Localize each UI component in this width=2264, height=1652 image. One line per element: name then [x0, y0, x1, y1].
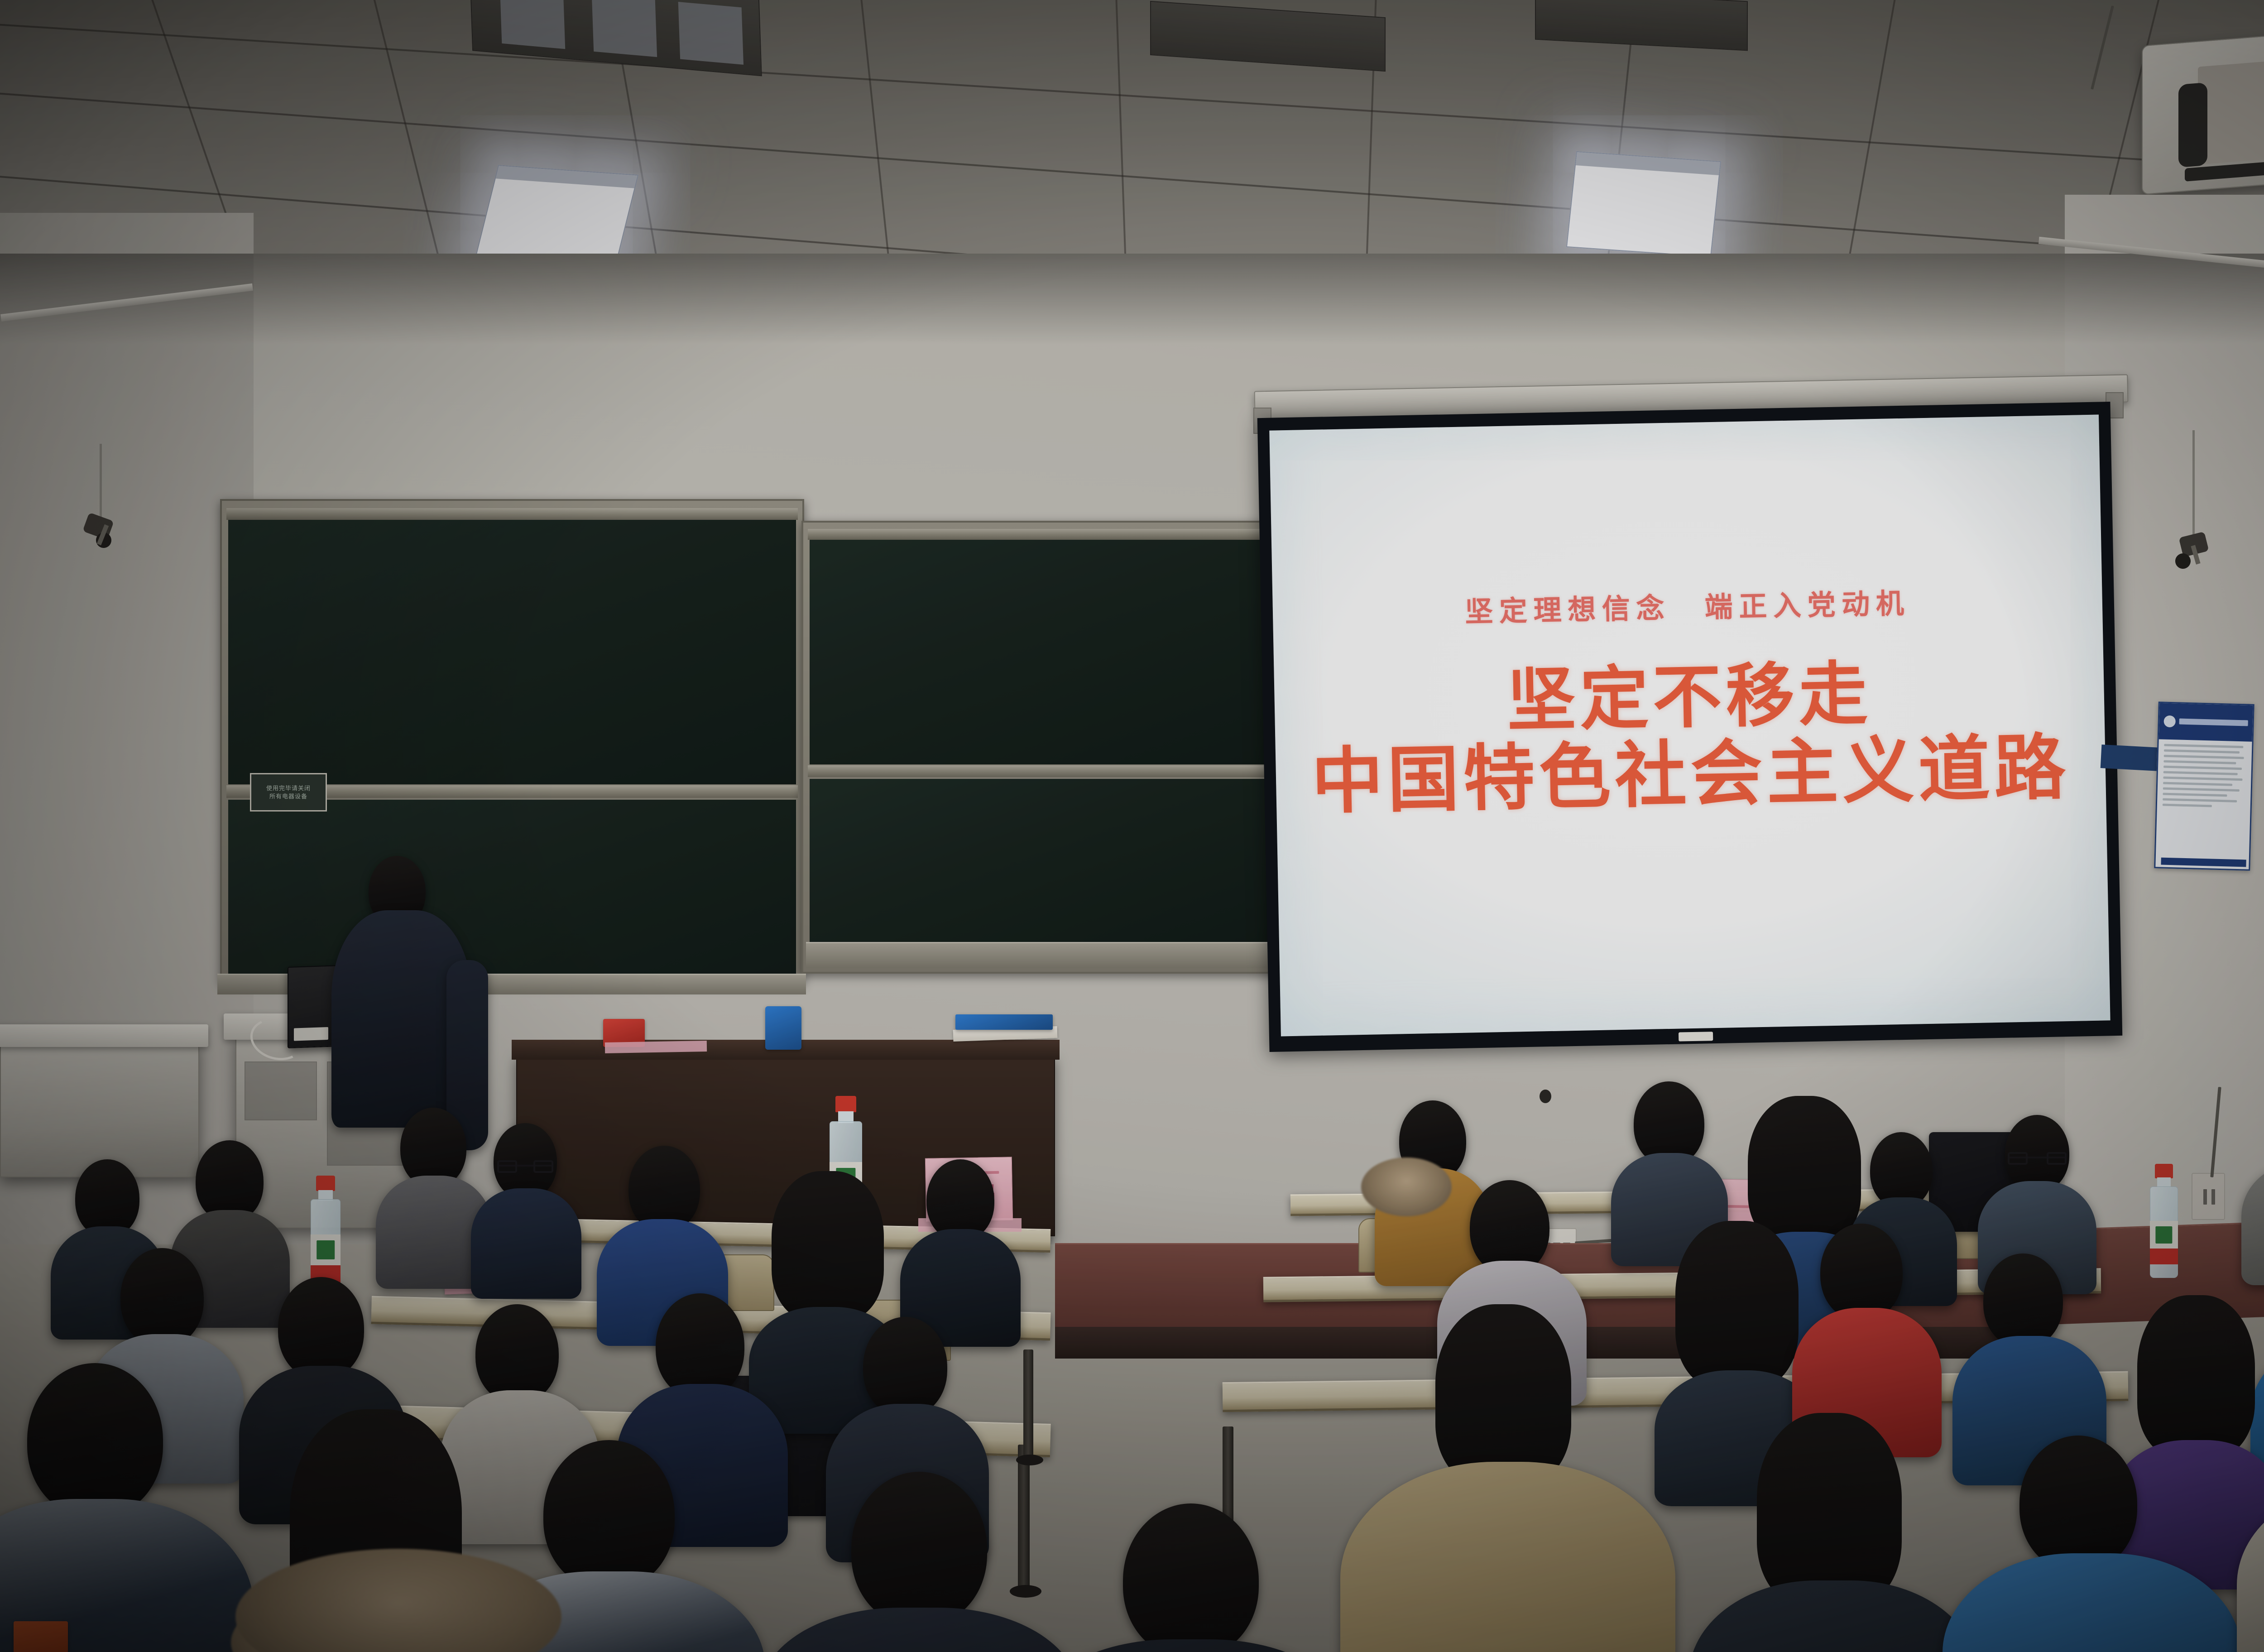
notice-header-title — [2179, 719, 2248, 726]
desk-foot-2 — [1016, 1455, 1043, 1465]
blue-folder-on-desk — [955, 1014, 1053, 1030]
screen-pull-tab — [1679, 1032, 1713, 1041]
projection-screen-frame: 坚定理想信念 端正入党动机 坚定不移走 中国特色社会主义道路 — [1257, 402, 2123, 1052]
recessed-panel-light-1 — [475, 165, 638, 266]
slide-title-line-1: 坚定不移走 — [1506, 658, 1872, 737]
notice-body — [2157, 739, 2252, 812]
blackboard-right-panel — [801, 521, 1281, 974]
institution-logo-icon — [2163, 715, 2176, 727]
lectern-lower-top — [0, 1024, 208, 1047]
blue-package-on-desk — [765, 1006, 801, 1050]
notice-footer-bar — [2161, 858, 2246, 867]
wall-shading — [0, 254, 2264, 344]
blackboard-left-panel — [220, 499, 804, 984]
projection-screen-surface: 坚定理想信念 端正入党动机 坚定不移走 中国特色社会主义道路 — [1269, 415, 2110, 1037]
wall-notice-blue — [2154, 701, 2254, 870]
recessed-panel-light-2 — [1566, 151, 1721, 257]
slide-subtitle: 坚定理想信念 端正入党动机 — [1465, 590, 1910, 626]
orange-item-floor — [14, 1621, 68, 1652]
desk-foot-1 — [1010, 1585, 1041, 1598]
pink-paper-front-left — [605, 1041, 707, 1053]
water-bottle-right — [2150, 1164, 2178, 1278]
classroom-notice-plaque: 使用完毕请关闭 所有电器设备 — [250, 773, 327, 812]
classroom-scene: 使用完毕请关闭 所有电器设备 坚定理想信念 端正入党动机 坚定不移走 中国特色社… — [0, 0, 2264, 1652]
wall-socket-right[interactable] — [2192, 1173, 2225, 1220]
ceiling-ac-unit — [2142, 20, 2264, 195]
plaque-line-1: 使用完毕请关闭 — [266, 784, 311, 792]
desk-leg-2 — [1023, 1349, 1033, 1463]
wall-nail — [1540, 1090, 1551, 1103]
plaque-line-2: 所有电器设备 — [269, 792, 307, 801]
slide-title-line-2: 中国特色社会主义道路 — [1311, 730, 2071, 819]
notice-header — [2159, 703, 2253, 741]
lectern-lower-cabinet — [0, 1042, 199, 1177]
desk-leg-1 — [1018, 1445, 1030, 1594]
